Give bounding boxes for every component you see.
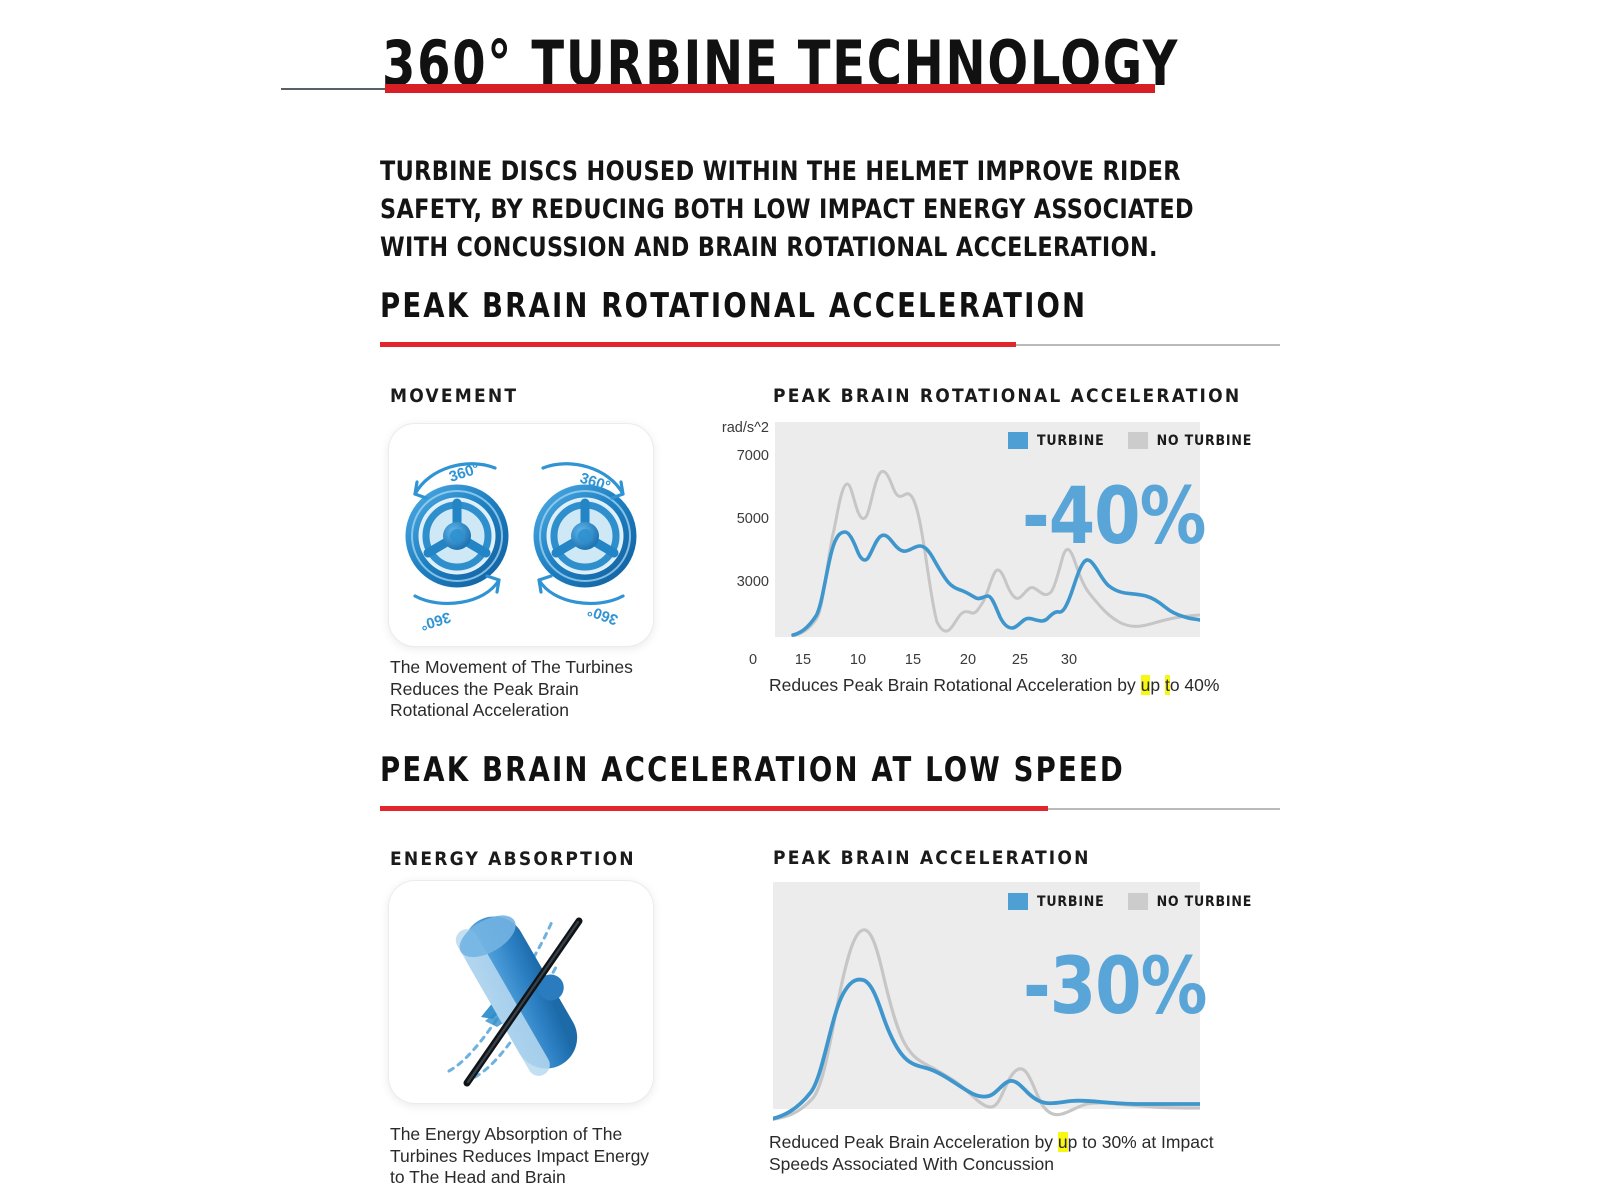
panel-label-movement: MOVEMENT [390,385,518,407]
chart-peak-brain-acceleration: PEAK BRAIN ACCELERATION TURBINE NO TURBI… [715,843,1215,1133]
chart-1-xtick-3: 15 [898,652,928,668]
section-2-divider [380,806,1280,812]
turbine-discs-illustration: 360° 360° [389,424,653,646]
chart-1-annotation: -40% [1022,478,1205,556]
chart-2-legend: TURBINE NO TURBINE [1008,893,1252,910]
legend-label-no-turbine: NO TURBINE [1157,433,1253,449]
chart-2-caption: Reduced Peak Brain Acceleration by up to… [769,1132,1229,1175]
section-heading-rotational: PEAK BRAIN ROTATIONAL ACCELERATION [380,286,1285,348]
legend-swatch-turbine-icon-2 [1008,893,1028,910]
infographic-page: 360° TURBINE TECHNOLOGY TURBINE DISCS HO… [0,0,1600,1200]
chart-1-caption-mid: p [1150,675,1165,695]
chart-1-ytick-7000: 7000 [705,448,769,464]
section-1-divider [380,342,1280,348]
section-1-title: PEAK BRAIN ROTATIONAL ACCELERATION [380,286,1195,326]
section-1-divider-red [380,342,1016,347]
chart-1-legend: TURBINE NO TURBINE [1008,432,1252,449]
panel-label-energy-absorption: ENERGY ABSORPTION [390,848,636,870]
section-heading-low-speed: PEAK BRAIN ACCELERATION AT LOW SPEED [380,750,1285,812]
energy-absorption-illustration [389,881,653,1103]
label-360-right-bottom: 360° [585,602,620,629]
chart-1-caption: Reduces Peak Brain Rotational Accelerati… [769,675,1239,697]
chart-1-ytick-5000: 5000 [705,511,769,527]
chart-2-caption-hl-u: u [1058,1132,1068,1152]
chart-1-xtick-4: 20 [953,652,983,668]
section-1-divider-grey [1016,344,1280,346]
chart-1-xtick-2: 10 [843,652,873,668]
chart-1-title: PEAK BRAIN ROTATIONAL ACCELERATION [773,385,1241,407]
energy-absorption-caption: The Energy Absorption of The Turbines Re… [390,1124,652,1189]
legend-label-no-turbine-2: NO TURBINE [1157,894,1253,910]
section-2-divider-grey [1048,808,1280,810]
legend-swatch-no-turbine-icon-2 [1128,893,1148,910]
chart-rotational-acceleration: PEAK BRAIN ROTATIONAL ACCELERATION rad/s… [715,380,1215,700]
label-360-left-bottom: 360° [418,608,453,633]
section-2-divider-red [380,806,1048,811]
chart-1-xtick-0: 0 [738,652,768,668]
legend-label-turbine: TURBINE [1037,433,1105,449]
legend-swatch-turbine-icon [1008,432,1028,449]
legend-swatch-no-turbine-icon [1128,432,1148,449]
title-divider-grey [281,88,387,90]
intro-paragraph: TURBINE DISCS HOUSED WITHIN THE HELMET I… [380,153,1199,267]
chart-1-xtick-5: 25 [1005,652,1035,668]
chart-1-xtick-6: 30 [1054,652,1084,668]
chart-1-caption-post: o 40% [1170,675,1220,695]
chart-2-annotation: -30% [1023,948,1206,1026]
chart-1-caption-hl-u: u [1141,675,1151,695]
movement-caption: The Movement of The Turbines Reduces the… [390,657,652,722]
title-divider-red [385,84,1155,93]
movement-image-card: 360° 360° [389,424,653,646]
energy-absorption-image-card [389,881,653,1103]
chart-1-xtick-1: 15 [788,652,818,668]
section-2-title: PEAK BRAIN ACCELERATION AT LOW SPEED [380,750,1195,790]
chart-2-caption-pre: Reduced Peak Brain Acceleration by [769,1132,1058,1152]
chart-1-ytick-3000: 3000 [705,574,769,590]
title-divider [281,83,1155,95]
chart-1-caption-pre: Reduces Peak Brain Rotational Accelerati… [769,675,1141,695]
chart-1-y-unit: rad/s^2 [705,420,769,436]
legend-label-turbine-2: TURBINE [1037,894,1105,910]
chart-2-title: PEAK BRAIN ACCELERATION [773,847,1091,869]
